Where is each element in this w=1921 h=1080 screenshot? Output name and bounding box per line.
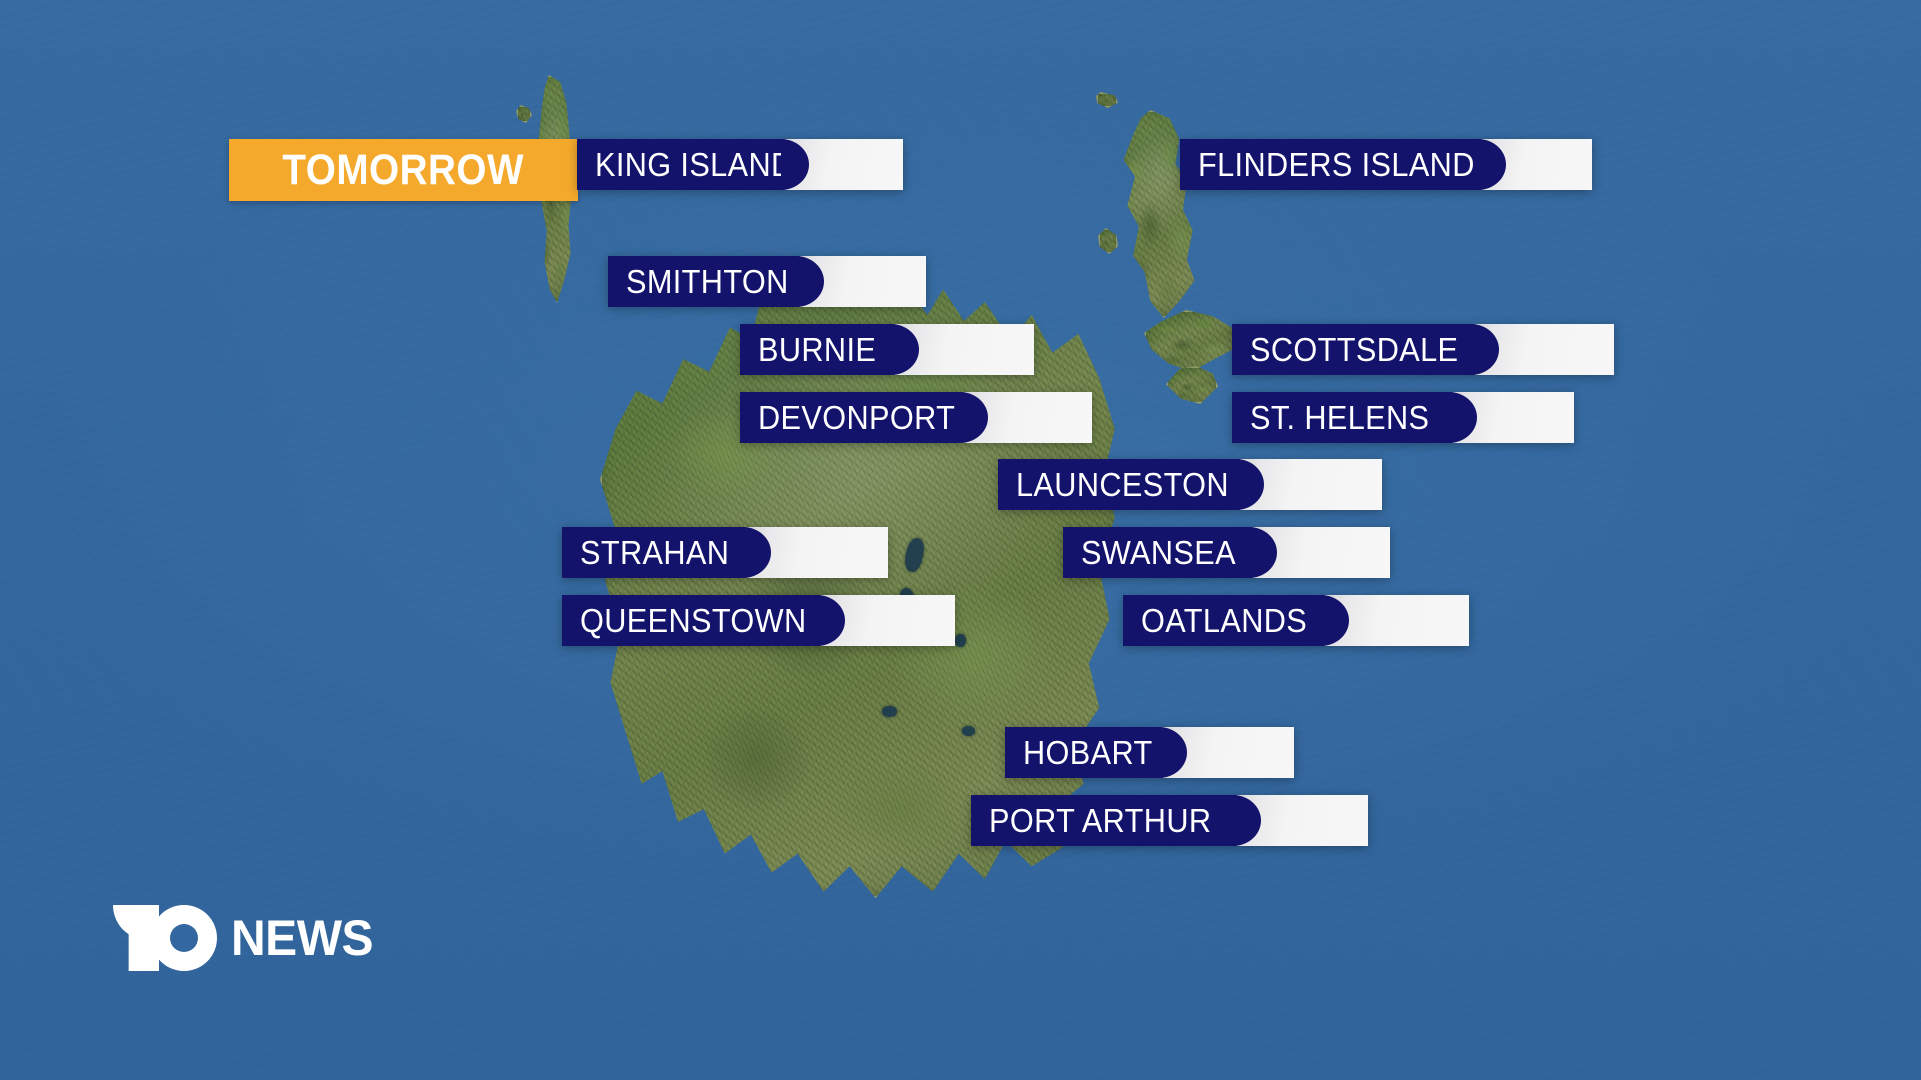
city-label-name-plate: DEVONPORT — [740, 392, 962, 443]
city-label-name: KING ISLAND — [595, 148, 794, 181]
ten-news-logo: NEWS — [113, 905, 379, 971]
city-label-name: STRAHAN — [580, 536, 729, 569]
city-label[interactable]: FLINDERS ISLAND — [1180, 139, 1592, 190]
city-label[interactable]: DEVONPORT — [740, 392, 1092, 443]
city-label-name-plate: PORT ARTHUR — [971, 795, 1235, 846]
city-label-name-plate: ST. HELENS — [1232, 392, 1451, 443]
city-label-name: SCOTTSDALE — [1250, 333, 1458, 366]
city-label[interactable]: PORT ARTHUR — [971, 795, 1368, 846]
map-lake — [882, 706, 897, 717]
city-label-name-plate: QUEENSTOWN — [562, 595, 819, 646]
ten-logo-mark-icon — [113, 905, 217, 971]
city-label-name-plate: STRAHAN — [562, 527, 745, 578]
city-label-name: OATLANDS — [1141, 604, 1307, 637]
city-label-name: BURNIE — [758, 333, 876, 366]
city-label-name: ST. HELENS — [1250, 401, 1429, 434]
logo-digit-one-wedge — [113, 905, 145, 939]
city-label-name: LAUNCESTON — [1016, 468, 1229, 501]
tomorrow-banner[interactable]: TOMORROW — [229, 139, 578, 201]
city-label[interactable]: HOBART — [1005, 727, 1294, 778]
city-label-name: QUEENSTOWN — [580, 604, 807, 637]
city-label-name-plate: SWANSEA — [1063, 527, 1251, 578]
city-label[interactable]: SWANSEA — [1063, 527, 1390, 578]
logo-digit-zero — [151, 905, 217, 971]
news-wordmark: NEWS — [231, 913, 373, 963]
city-label-name-plate: LAUNCESTON — [998, 459, 1238, 510]
city-label-name-plate: HOBART — [1005, 727, 1161, 778]
city-label[interactable]: SMITHTON — [608, 256, 926, 307]
city-label-name: SWANSEA — [1081, 536, 1236, 569]
city-label[interactable]: ST. HELENS — [1232, 392, 1574, 443]
weather-map-screen: TOMORROW KING ISLANDFLINDERS ISLANDSMITH… — [0, 0, 1921, 1080]
city-label-name: DEVONPORT — [758, 401, 955, 434]
city-label-name-plate: SMITHTON — [608, 256, 798, 307]
city-label-name: FLINDERS ISLAND — [1198, 148, 1475, 181]
map-lake — [962, 726, 975, 736]
city-label-name-plate: OATLANDS — [1123, 595, 1323, 646]
tomorrow-banner-label: TOMORROW — [283, 149, 525, 192]
city-label[interactable]: SCOTTSDALE — [1232, 324, 1614, 375]
city-label[interactable]: QUEENSTOWN — [562, 595, 955, 646]
city-label[interactable]: LAUNCESTON — [998, 459, 1382, 510]
city-label-name: SMITHTON — [626, 265, 789, 298]
map-lake — [955, 634, 966, 647]
city-label-name-plate: BURNIE — [740, 324, 893, 375]
city-label-name-plate: KING ISLAND — [577, 139, 783, 190]
city-label-name: PORT ARTHUR — [989, 804, 1211, 837]
city-label[interactable]: KING ISLAND — [577, 139, 903, 190]
city-label[interactable]: STRAHAN — [562, 527, 888, 578]
city-label-name: HOBART — [1023, 736, 1153, 769]
city-label[interactable]: OATLANDS — [1123, 595, 1469, 646]
city-label[interactable]: BURNIE — [740, 324, 1034, 375]
city-label-name-plate: FLINDERS ISLAND — [1180, 139, 1480, 190]
city-label-name-plate: SCOTTSDALE — [1232, 324, 1473, 375]
